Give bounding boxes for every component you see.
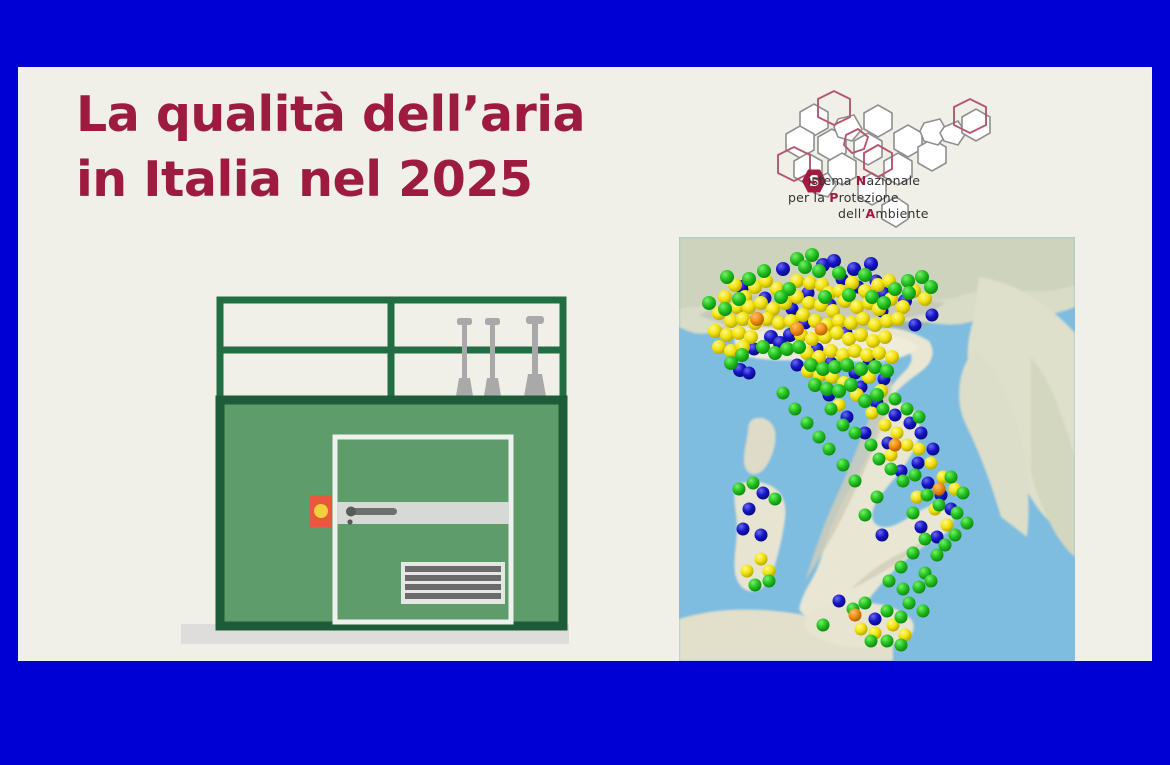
snpa-logo: S istema Nazionale per la Protezione del… xyxy=(758,77,1028,242)
content-panel: La qualità dell’aria in Italia nel 2025 xyxy=(18,67,1152,661)
station-warning-sign xyxy=(310,495,332,527)
italy-station-map xyxy=(679,237,1075,661)
station-roof-frame xyxy=(220,300,563,401)
station-vent-grille xyxy=(401,562,505,604)
station-cabin-body xyxy=(220,400,563,626)
station-door-handle xyxy=(349,508,397,515)
cover-page: La qualità dell’aria in Italia nel 2025 xyxy=(0,0,1170,765)
station-sampling-probes xyxy=(455,316,547,402)
page-title: La qualità dell’aria in Italia nel 2025 xyxy=(76,83,696,212)
snpa-logo-text: istema Nazionale per la Protezione dell’… xyxy=(786,173,1024,223)
monitoring-station-illustration xyxy=(163,232,583,662)
